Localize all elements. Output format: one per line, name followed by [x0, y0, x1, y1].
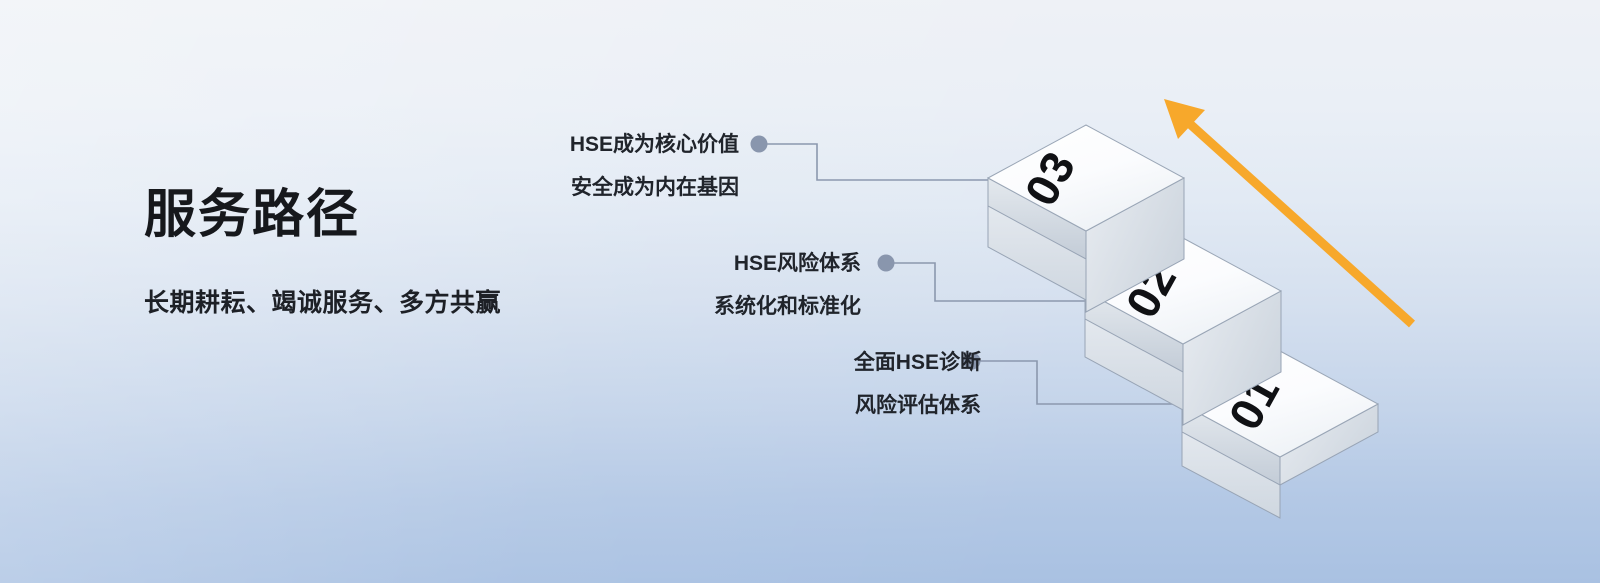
callout-02-line1: HSE风险体系 — [734, 252, 861, 275]
callout-01-line1: 全面HSE诊断 — [854, 351, 981, 374]
page-subtitle: 长期耕耘、竭诚服务、多方共赢 — [144, 288, 501, 318]
connector-02-dot — [878, 255, 895, 272]
connector-03 — [751, 136, 991, 181]
callout-03-line1: HSE成为核心价值 — [570, 133, 739, 156]
heading-block: 服务路径 长期耕耘、竭诚服务、多方共赢 — [144, 186, 501, 318]
connector-03-dot — [751, 136, 768, 153]
callout-label-02: HSE风险体系 系统化和标准化 — [461, 253, 861, 317]
callout-label-03: HSE成为核心价值 安全成为内在基因 — [339, 134, 739, 198]
slide-canvas: 服务路径 长期耕耘、竭诚服务、多方共赢 HSE成为核心价值 安全成为内在基因 H… — [0, 0, 1600, 583]
callout-02-line2: 系统化和标准化 — [461, 296, 861, 317]
connector-03-line — [762, 144, 990, 180]
callout-label-01: 全面HSE诊断 风险评估体系 — [581, 352, 981, 416]
callout-03-line2: 安全成为内在基因 — [339, 177, 739, 198]
callout-01-line2: 风险评估体系 — [581, 395, 981, 416]
